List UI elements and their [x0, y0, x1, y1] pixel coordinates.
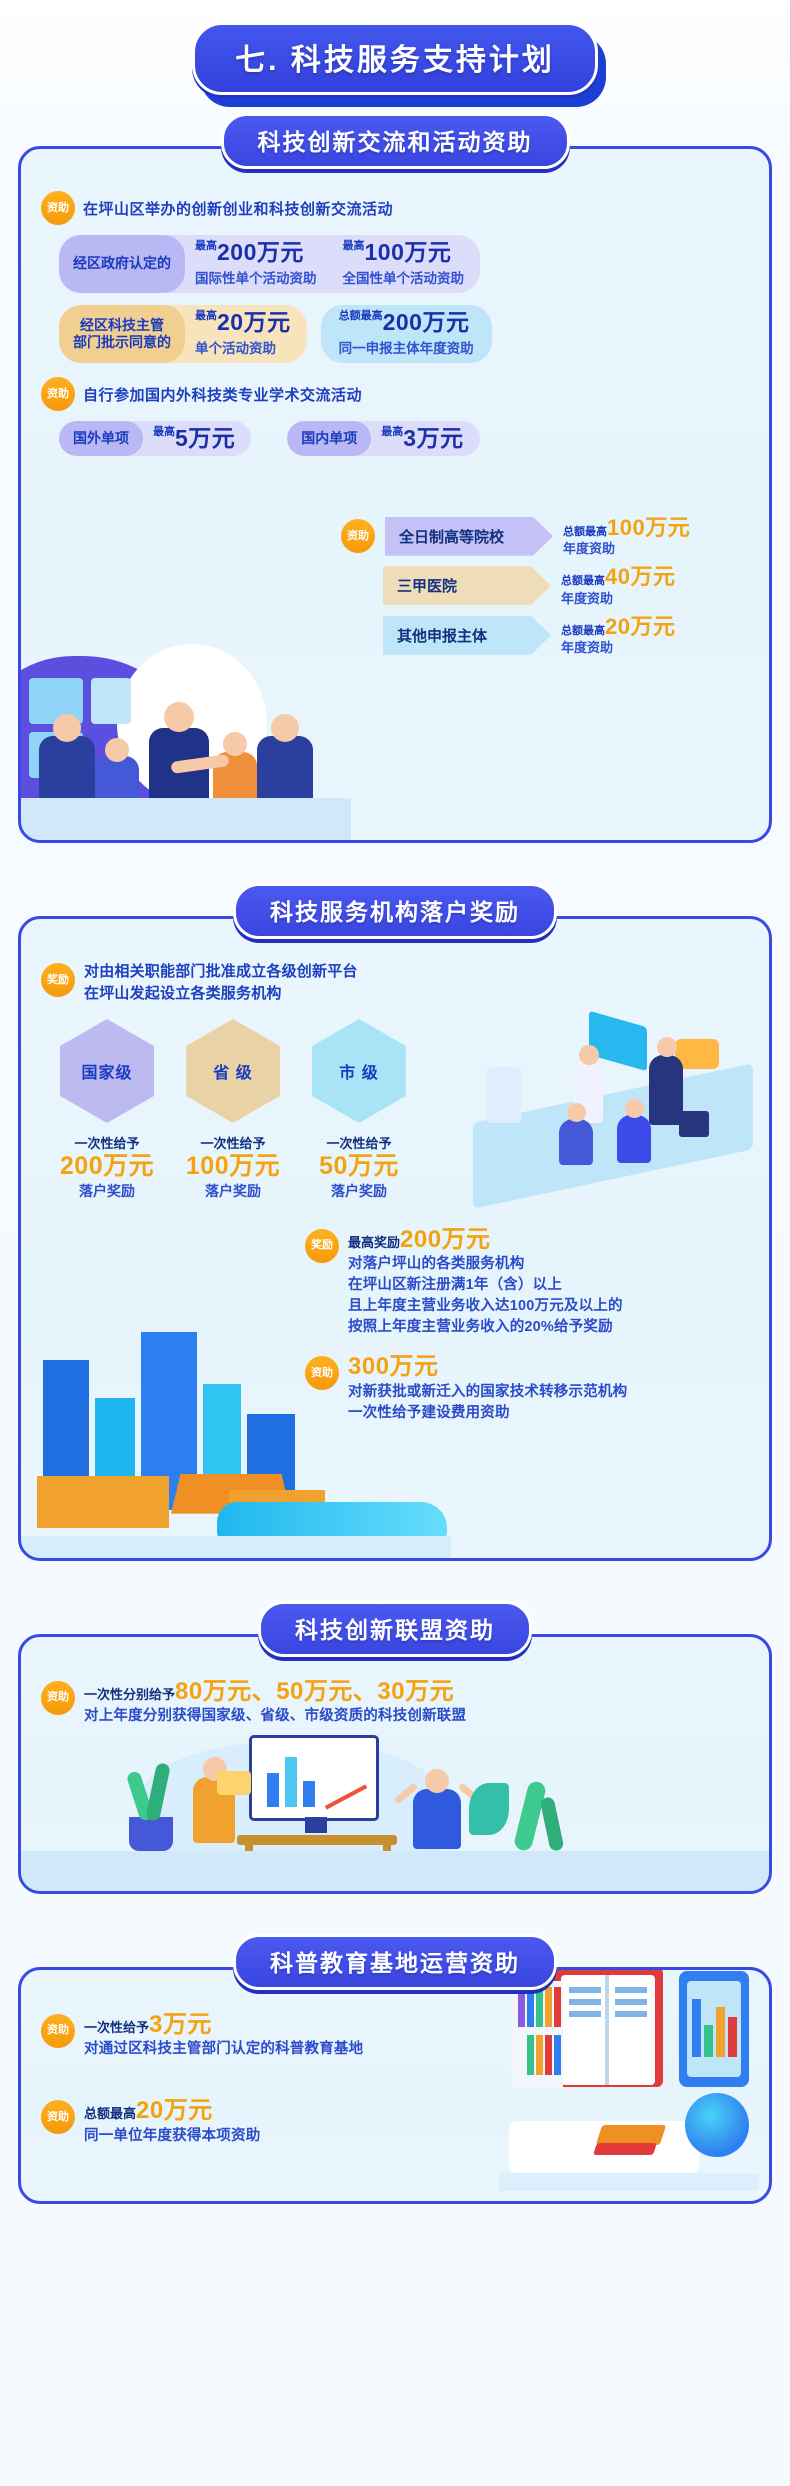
pill-amount: 最高200万元 国际性单个活动资助	[185, 235, 333, 293]
intro-line: 对由相关职能部门批准成立各级创新平台	[84, 961, 358, 983]
funding-tag-icon: 资助	[305, 1356, 339, 1390]
funding-tag-icon: 资助	[341, 519, 375, 553]
level-name: 市 级	[312, 1019, 406, 1123]
amount-value: 20万元	[136, 2097, 213, 2124]
amount-prefix: 一次性分别给予	[84, 1687, 175, 1702]
amount-value: 200万元	[217, 239, 304, 265]
amount-prefix: 最高	[195, 310, 217, 322]
lead-text: 自行参加国内外科技类专业学术交流活动	[83, 384, 362, 405]
lead-text: 在坪山区举办的创新创业和科技创新交流活动	[83, 198, 393, 219]
detail-line: 对上年度分别获得国家级、省级、市级资质的科技创新联盟	[84, 1706, 466, 1727]
pill-row: 经区政府认定的 最高200万元 国际性单个活动资助 最高100万元 全国性单个活…	[59, 235, 749, 293]
pill-amount: 最高20万元 单个活动资助	[185, 305, 307, 363]
amount-desc: 单个活动资助	[195, 337, 291, 357]
amount-value: 20万元	[605, 614, 675, 639]
amount-prefix: 总额最高	[84, 2106, 136, 2121]
funding-tag-icon: 资助	[41, 191, 75, 225]
amount-desc: 全国性单个活动资助	[343, 267, 465, 287]
section-science-education-base-funding: 科普教育基地运营资助	[18, 1934, 772, 2204]
level-cards: 国家级 一次性给予 200万元 落户奖励 省 级 一次性给予 100万元 落户奖…	[55, 1019, 749, 1201]
amount-prefix: 最高奖励	[348, 1235, 400, 1250]
section-badge-label: 科技创新交流和活动资助	[258, 123, 533, 157]
detail-line: 一次性给予建设费用资助	[348, 1403, 627, 1424]
pill-label: 国外单项	[59, 421, 143, 456]
amount-value: 20万元	[217, 309, 291, 335]
pill-amount: 最高100万元 全国性单个活动资助	[333, 235, 481, 293]
page-title: 七. 科技服务支持计划	[235, 35, 555, 79]
entity-label: 全日制高等院校	[385, 517, 553, 556]
amount-prefix: 总额最高	[563, 526, 607, 538]
amount-prefix: 总额最高	[339, 310, 383, 322]
amount-value: 80万元、50万元、30万元	[175, 1678, 454, 1705]
amount-value: 100万元	[607, 515, 690, 540]
amount-desc: 年度资助	[561, 592, 675, 606]
entity-amount: 总额最高40万元 年度资助	[561, 565, 675, 605]
section-header: 科技创新交流和活动资助	[18, 113, 772, 169]
detail-line: 且上年度主营业务收入达100万元及以上的	[348, 1296, 623, 1317]
pill-label: 经区政府认定的	[59, 235, 185, 293]
pill-row: 国外单项 最高5万元 国内单项 最高3万元	[59, 421, 749, 456]
funding-tag-icon: 资助	[41, 1681, 75, 1715]
section-header: 科技创新联盟资助	[18, 1601, 772, 1657]
level-card: 市 级 一次性给予 50万元 落户奖励	[307, 1019, 411, 1201]
alliance-detail-block: 资助 一次性分别给予80万元、50万元、30万元 对上年度分别获得国家级、省级、…	[41, 1679, 749, 1727]
entity-label: 三甲医院	[383, 566, 551, 605]
detail-line: 同一单位年度获得本项资助	[84, 2126, 260, 2147]
entity-quota-row: 其他申报主体 总额最高20万元 年度资助	[341, 615, 749, 655]
award-detail-block: 资助 300万元 对新获批或新迁入的国家技术转移示范机构 一次性给予建设费用资助	[305, 1354, 749, 1423]
main-title-banner: 七. 科技服务支持计划	[0, 0, 790, 113]
amount-prefix: 最高	[343, 240, 365, 252]
meeting-illustration	[21, 640, 351, 840]
level-name: 省 级	[186, 1019, 280, 1123]
funding-tag-icon: 资助	[41, 377, 75, 411]
detail-line: 在坪山区新注册满1年（含）以上	[348, 1275, 623, 1296]
amount-prefix: 最高	[381, 426, 403, 438]
level-prefix: 一次性给予	[181, 1133, 285, 1152]
funding-pill: 经区政府认定的 最高200万元 国际性单个活动资助 最高100万元 全国性单个活…	[59, 235, 480, 293]
amount-prefix: 最高	[195, 240, 217, 252]
amount-value: 40万元	[605, 564, 675, 589]
funding-pill: 国外单项 最高5万元	[59, 421, 251, 456]
level-card: 国家级 一次性给予 200万元 落户奖励	[55, 1019, 159, 1201]
amount-desc: 同一申报主体年度资助	[339, 337, 474, 357]
entity-quota-row: 资助 全日制高等院校 总额最高100万元 年度资助	[341, 516, 749, 556]
award-intro: 奖励 对由相关职能部门批准成立各级创新平台 在坪山发起设立各类服务机构	[41, 961, 749, 1005]
level-amount: 200万元	[55, 1152, 159, 1181]
entity-amount: 总额最高100万元 年度资助	[563, 516, 690, 556]
award-detail-block: 奖励 最高奖励200万元 对落户坪山的各类服务机构 在坪山区新注册满1年（含）以…	[305, 1227, 749, 1338]
amount-value: 200万元	[383, 309, 470, 335]
intro-line: 在坪山发起设立各类服务机构	[84, 983, 358, 1005]
base-detail-block: 资助 一次性给予3万元 对通过区科技主管部门认定的科普教育基地	[41, 2012, 749, 2060]
detail-line: 对新获批或新迁入的国家技术转移示范机构	[348, 1382, 627, 1403]
amount-desc: 年度资助	[563, 542, 690, 556]
funding-group-lead: 资助 在坪山区举办的创新创业和科技创新交流活动	[41, 191, 749, 225]
level-amount: 50万元	[307, 1152, 411, 1181]
funding-tag-icon: 资助	[41, 2100, 75, 2134]
level-name: 国家级	[60, 1019, 154, 1123]
pill-amount: 最高5万元	[143, 421, 251, 456]
amount-value: 300万元	[348, 1353, 439, 1380]
funding-tag-icon: 资助	[41, 2014, 75, 2048]
amount-value: 5万元	[175, 425, 235, 451]
entity-label: 其他申报主体	[383, 616, 551, 655]
amount-prefix: 总额最高	[561, 625, 605, 637]
amount-value: 3万元	[403, 425, 463, 451]
funding-group-lead: 资助 自行参加国内外科技类专业学术交流活动	[41, 377, 749, 411]
section-exchange-activity-funding: 科技创新交流和活动资助 资助	[18, 113, 772, 843]
funding-pill: 总额最高200万元 同一申报主体年度资助	[321, 305, 492, 363]
level-prefix: 一次性给予	[55, 1133, 159, 1152]
detail-line: 对通过区科技主管部门认定的科普教育基地	[84, 2039, 363, 2060]
award-tag-icon: 奖励	[305, 1229, 339, 1263]
entity-quota-list: 资助 全日制高等院校 总额最高100万元 年度资助 三甲医院 总额最高40万元	[341, 516, 749, 655]
level-desc: 落户奖励	[307, 1181, 411, 1201]
amount-desc: 年度资助	[561, 641, 675, 655]
level-amount: 100万元	[181, 1152, 285, 1181]
funding-pill: 国内单项 最高3万元	[287, 421, 479, 456]
section-badge-label: 科技服务机构落户奖励	[270, 893, 520, 927]
section-innovation-alliance-funding: 科技创新联盟资助	[18, 1601, 772, 1894]
pill-amount: 总额最高200万元 同一申报主体年度资助	[321, 305, 492, 363]
section-badge-label: 科普教育基地运营资助	[270, 1944, 520, 1978]
level-card: 省 级 一次性给予 100万元 落户奖励	[181, 1019, 285, 1201]
entity-quota-row: 三甲医院 总额最高40万元 年度资助	[341, 565, 749, 605]
pill-amount: 最高3万元	[371, 421, 479, 456]
amount-value: 200万元	[400, 1226, 491, 1253]
detail-line: 对落户坪山的各类服务机构	[348, 1254, 623, 1275]
amount-desc: 国际性单个活动资助	[195, 267, 317, 287]
base-detail-block: 资助 总额最高20万元 同一单位年度获得本项资助	[41, 2098, 749, 2146]
section-header: 科技服务机构落户奖励	[18, 883, 772, 939]
section-header: 科普教育基地运营资助	[18, 1934, 772, 1990]
section-badge-label: 科技创新联盟资助	[295, 1611, 495, 1645]
pill-label: 经区科技主管 部门批示同意的	[59, 305, 185, 363]
section-service-org-settlement-award: 科技服务机构落户奖励	[18, 883, 772, 1560]
amount-value: 3万元	[149, 2011, 212, 2038]
level-desc: 落户奖励	[181, 1181, 285, 1201]
level-prefix: 一次性给予	[307, 1133, 411, 1152]
pill-row: 经区科技主管 部门批示同意的 最高20万元 单个活动资助 总额最高200万元 同…	[59, 305, 749, 363]
level-desc: 落户奖励	[55, 1181, 159, 1201]
pill-label: 国内单项	[287, 421, 371, 456]
amount-prefix: 总额最高	[561, 575, 605, 587]
entity-amount: 总额最高20万元 年度资助	[561, 615, 675, 655]
amount-value: 100万元	[365, 239, 452, 265]
amount-prefix: 一次性给予	[84, 2020, 149, 2035]
detail-line: 按照上年度主营业务收入的20%给予奖励	[348, 1317, 623, 1338]
amount-prefix: 最高	[153, 426, 175, 438]
award-tag-icon: 奖励	[41, 963, 75, 997]
funding-pill: 经区科技主管 部门批示同意的 最高20万元 单个活动资助	[59, 305, 307, 363]
